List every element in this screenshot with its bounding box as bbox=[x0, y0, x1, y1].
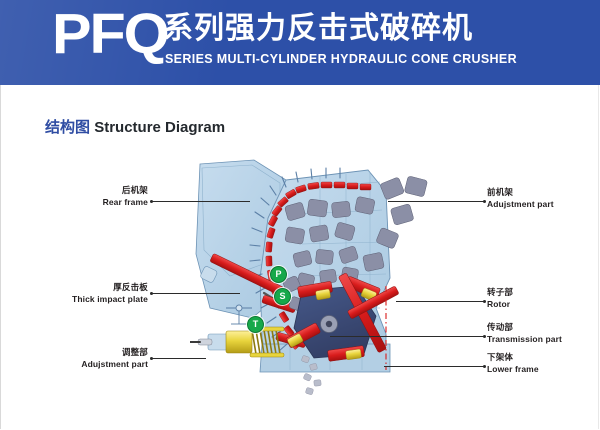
callout-lower-frame-en: Lower frame bbox=[487, 364, 600, 375]
callout-rotor: 转子部 Rotor bbox=[487, 288, 600, 309]
leader-dot-lower-frame bbox=[483, 365, 486, 368]
leader-line-rotor bbox=[396, 301, 484, 302]
callout-thick-impact-plate-en: Thick impact plate bbox=[0, 294, 148, 305]
callout-transmission-part-cn: 传动部 bbox=[487, 323, 600, 334]
banner-title-english: SERIES MULTI-CYLINDER HYDRAULIC CONE CRU… bbox=[165, 52, 517, 66]
leader-line-front-frame bbox=[388, 201, 484, 202]
leader-line-thick-impact-plate bbox=[152, 293, 240, 294]
callout-rotor-cn: 转子部 bbox=[487, 288, 600, 299]
callout-lower-frame: 下架体 Lower frame bbox=[487, 353, 600, 374]
callout-transmission-part-en: Transmission part bbox=[487, 334, 600, 345]
leader-line-rear-frame bbox=[152, 201, 250, 202]
port-marker-s[interactable]: S bbox=[274, 288, 291, 305]
structure-diagram-illustration bbox=[190, 158, 440, 400]
callout-rotor-en: Rotor bbox=[487, 299, 600, 310]
callout-lower-frame-cn: 下架体 bbox=[487, 353, 600, 364]
callout-transmission-part: 传动部 Transmission part bbox=[487, 323, 600, 344]
leader-dot-front-frame bbox=[483, 200, 486, 203]
leader-line-lower-frame bbox=[384, 366, 484, 367]
banner-title-chinese: 系列强力反击式破碎机 bbox=[163, 12, 473, 46]
callout-front-frame-cn: 前机架 bbox=[487, 188, 600, 199]
page-root: PFQ 系列强力反击式破碎机 SERIES MULTI-CYLINDER HYD… bbox=[0, 0, 600, 430]
leader-line-transmission-part bbox=[330, 336, 484, 337]
callout-thick-impact-plate-cn: 厚反击板 bbox=[0, 283, 148, 294]
callout-rear-frame-cn: 后机架 bbox=[0, 186, 148, 197]
leader-line-adjustment-part-left bbox=[152, 358, 206, 359]
product-logo-pfq: PFQ bbox=[52, 6, 168, 63]
callout-adjustment-part-left-en: Adujstment part bbox=[0, 359, 148, 370]
product-header-banner: PFQ 系列强力反击式破碎机 SERIES MULTI-CYLINDER HYD… bbox=[0, 0, 600, 85]
callout-rear-frame-en: Rear frame bbox=[0, 197, 148, 208]
leader-dot-rotor bbox=[483, 300, 486, 303]
callout-adjustment-part-left-cn: 调整部 bbox=[0, 348, 148, 359]
callout-front-frame-en: Adujstment part bbox=[487, 199, 600, 210]
callout-thick-impact-plate: 厚反击板 Thick impact plate bbox=[0, 283, 148, 304]
section-title: 结构图 Structure Diagram bbox=[45, 118, 225, 137]
leader-dot-transmission-part bbox=[483, 335, 486, 338]
callout-rear-frame: 后机架 Rear frame bbox=[0, 186, 148, 207]
callout-front-frame: 前机架 Adujstment part bbox=[487, 188, 600, 209]
section-title-chinese: 结构图 bbox=[45, 118, 90, 136]
port-marker-p[interactable]: P bbox=[270, 266, 287, 283]
callout-adjustment-part-left: 调整部 Adujstment part bbox=[0, 348, 148, 369]
section-title-english: Structure Diagram bbox=[94, 119, 225, 136]
port-marker-t[interactable]: T bbox=[247, 316, 264, 333]
